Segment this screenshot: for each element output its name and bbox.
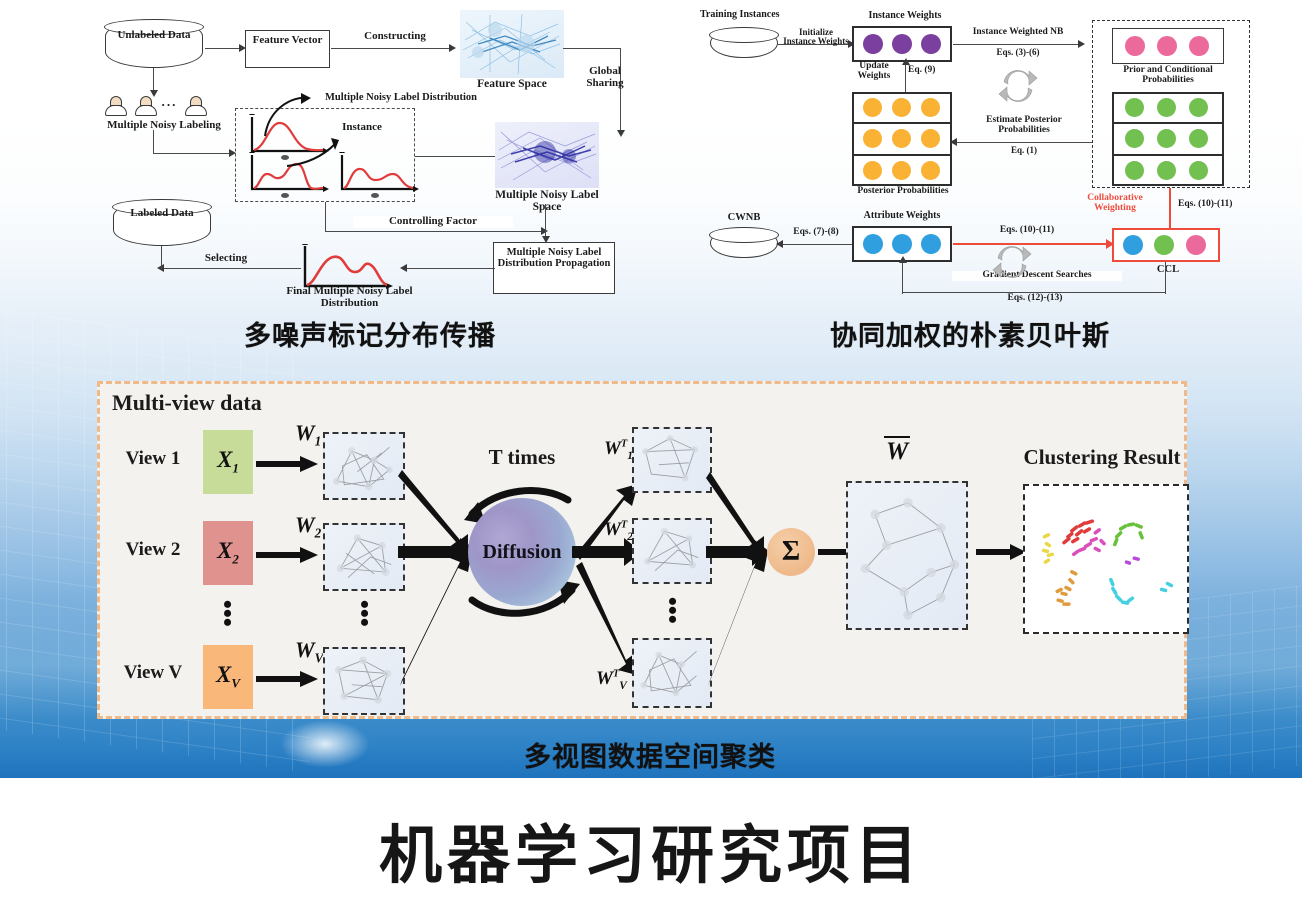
- edge-gradient-descent-arrow: [899, 256, 907, 263]
- panel-multiview-title: Multi-view data: [112, 391, 342, 414]
- graph-box-view-3: [323, 647, 405, 715]
- w-out-label-2: WT2: [604, 519, 633, 543]
- prior-dot: [1157, 36, 1177, 56]
- instance-weight-dot: [921, 34, 941, 54]
- node-diffusion-label: Diffusion: [483, 541, 562, 564]
- node-unlabeled-data-label: Unlabeled Data: [105, 30, 203, 42]
- feature-space-graph: [460, 10, 564, 78]
- graph-box-consensus: [846, 481, 968, 630]
- node-cwnb-label: CWNB: [708, 212, 780, 223]
- conditional-row-divider: [1112, 122, 1224, 124]
- edge-prop-to-final-arrow: [400, 264, 407, 272]
- arrow-view2-to-graph: [256, 547, 320, 568]
- posterior-row-divider: [852, 122, 952, 124]
- view-matrix-3: XV: [203, 645, 253, 709]
- view-matrix-1: X1: [203, 430, 253, 494]
- edge-eq-10-11-mid-label: Eqs. (10)-(11): [972, 226, 1082, 236]
- edge-prop-to-final: [405, 268, 495, 269]
- edge-global-sharing-top: [563, 48, 621, 49]
- arrow-view3-to-graph: [256, 671, 320, 692]
- posterior-dot: [921, 98, 940, 117]
- distribution-marker: [371, 193, 379, 198]
- w-label-2: W2: [295, 512, 321, 541]
- view-matrix-1-text: X1: [217, 447, 239, 477]
- node-diffusion: Diffusion: [468, 498, 576, 606]
- conditional-dot: [1157, 98, 1176, 117]
- posterior-row-divider: [852, 154, 952, 156]
- node-training-instances-label: Training Instances: [700, 10, 810, 21]
- attribute-weight-dot: [921, 234, 941, 254]
- node-unlabeled-data: [105, 20, 203, 68]
- edge-global-sharing-label: Global Sharing: [573, 66, 637, 89]
- edge-estimate-posterior: [955, 142, 1093, 143]
- edge-controlling-label: Controlling Factor: [353, 216, 513, 228]
- posterior-dot: [863, 161, 882, 180]
- edge-eq-1-label: Eq. (1): [962, 146, 1086, 155]
- caption-right: 协同加权的朴素贝叶斯: [780, 314, 1160, 353]
- graph-svg: [325, 649, 403, 713]
- posterior-dot: [892, 98, 911, 117]
- graph-vertical-ellipsis-right: •••: [668, 597, 677, 624]
- clustering-result-label: Clustering Result: [1012, 446, 1192, 468]
- labeler-person-icon: [185, 96, 207, 116]
- node-feature-space-image: [460, 10, 564, 78]
- conditional-dot: [1189, 98, 1208, 117]
- prior-dot: [1125, 36, 1145, 56]
- slide-canvas: Unlabeled Data Feature Vector Constructi…: [0, 0, 1302, 912]
- clustering-result-plot: [1023, 484, 1189, 634]
- recycle-icon: [990, 242, 1034, 282]
- edge-instance-weighted-nb-arrow: [1078, 40, 1085, 48]
- instance-weight-dot: [892, 34, 912, 54]
- graph-svg: [634, 520, 710, 582]
- noisy-space-graph: [495, 122, 599, 188]
- edge-estimate-posterior-arrow: [950, 138, 957, 146]
- graph-box-view-2: [323, 523, 405, 591]
- graph-svg: [634, 429, 710, 491]
- conditional-row-divider: [1112, 154, 1224, 156]
- edge-eq-3-6-label: Eqs. (3)-(6): [958, 48, 1078, 57]
- conditional-dot: [1125, 98, 1144, 117]
- node-attribute-weights-label: Attribute Weights: [850, 211, 954, 222]
- posterior-dot: [921, 129, 940, 148]
- edge-initialize-label: Initialize Instance Weights: [774, 28, 858, 47]
- ccl-dot-green: [1154, 235, 1174, 255]
- conditional-dot: [1157, 129, 1176, 148]
- recycle-icon: [996, 66, 1040, 106]
- edge-gradient-descent-left: [902, 262, 903, 294]
- node-feature-vector-label: Feature Vector: [245, 35, 330, 47]
- arrow-view1-to-graph: [256, 456, 320, 477]
- edge-update-weights: [905, 64, 906, 94]
- edge-estimate-posterior-label: Estimate Posterior Probabilities: [962, 116, 1086, 136]
- conditional-dot: [1125, 129, 1144, 148]
- graph-svg: [325, 434, 403, 498]
- graph-box-out-3: [632, 638, 712, 708]
- distribution-marker: [281, 193, 289, 198]
- graph-box-view-1: [323, 432, 405, 500]
- conditional-dot: [1125, 161, 1144, 180]
- edge-unlabeled-to-feature: [205, 48, 241, 49]
- view-matrix-2: X2: [203, 521, 253, 585]
- edge-collaborative-weighting-label: Collaborative Weighting: [1066, 194, 1164, 214]
- edge-update-weights-arrow: [902, 58, 910, 65]
- labeler-ellipsis: ···: [161, 98, 177, 112]
- w-label-3: WV: [295, 637, 323, 666]
- node-final-distribution-label: Final Multiple Noisy Label Distribution: [277, 286, 422, 309]
- conditional-dot: [1157, 161, 1176, 180]
- edge-instance-weighted-nb: [953, 44, 1081, 45]
- node-posterior-probabilities-label: Posterior Probabilities: [848, 187, 958, 197]
- w-label-1: W1: [295, 420, 321, 449]
- posterior-dot: [921, 161, 940, 180]
- view-matrix-2-text: X2: [217, 538, 239, 568]
- node-training-instances: [710, 28, 778, 58]
- edge-eq-12-13-label: Eqs. (12)-(13): [960, 294, 1110, 304]
- view-row-label-3: View V: [110, 663, 196, 683]
- edge-selecting-vert: [161, 244, 162, 269]
- edge-eq-7-8-label: Eqs. (7)-(8): [782, 228, 850, 238]
- arrow-wbar-to-cluster: [976, 544, 1028, 565]
- labeler-person-icon: [135, 96, 157, 116]
- graph-svg: [848, 483, 966, 628]
- caption-bottom: 多视图数据空间聚类: [470, 735, 830, 774]
- edge-collaborative-weighting-vert: [1169, 188, 1171, 230]
- graph-svg: [325, 525, 403, 589]
- node-sum-label: Σ: [782, 536, 800, 568]
- w-bar-label: W: [884, 438, 910, 466]
- page-title: 机器学习研究项目: [0, 805, 1302, 896]
- edge-controlling-vert: [325, 202, 326, 232]
- edge-constructing: [331, 48, 451, 49]
- edge-space-to-prop: [545, 204, 546, 238]
- edge-controlling-horz: [325, 231, 545, 232]
- labelers-label: Multiple Noisy Labeling: [89, 120, 239, 132]
- w-out-label-3: WTV: [596, 668, 627, 692]
- edge-update-weights-label: Update Weights: [846, 62, 902, 82]
- attribute-weight-dot: [892, 234, 912, 254]
- edge-instance-weighted-nb-label: Instance Weighted NB: [958, 28, 1078, 38]
- edge-global-sharing-vert: [620, 48, 621, 132]
- edge-selecting-label: Selecting: [181, 253, 271, 265]
- edge-eq-9-label: Eq. (9): [908, 66, 948, 76]
- cluster-scatter-svg: [1025, 486, 1187, 632]
- view-row-label-1: View 1: [110, 449, 196, 469]
- graph-box-out-2: [632, 518, 712, 584]
- posterior-dot: [863, 129, 882, 148]
- edge-constructing-arrow: [449, 44, 456, 52]
- node-feature-space-label: Feature Space: [460, 78, 564, 90]
- view-matrix-3-text: XV: [216, 662, 240, 692]
- edge-constructing-label: Constructing: [345, 31, 445, 43]
- graph-vertical-ellipsis-left: •••: [360, 600, 369, 627]
- instance-weight-dot: [863, 34, 883, 54]
- labeler-person-icon: [105, 96, 127, 116]
- ccl-dot-pink: [1186, 235, 1206, 255]
- node-instance-weights-label: Instance Weights: [850, 11, 960, 22]
- arrows-into-sigma: [706, 430, 772, 716]
- graph-svg: [634, 640, 710, 706]
- edge-eq-10-11-right-label: Eqs. (10)-(11): [1178, 200, 1258, 210]
- node-propagation-label: Multiple Noisy Label Distribution Propag…: [493, 247, 615, 269]
- diagram-noisy-label-propagation: Unlabeled Data Feature Vector Constructi…: [95, 4, 640, 304]
- edge-eq-7-8-arrow: [776, 240, 783, 248]
- edge-gradient-descent-right: [1165, 262, 1166, 294]
- posterior-dot: [892, 161, 911, 180]
- edge-labelers-vert: [153, 130, 154, 154]
- edge-labelers-horz: [153, 153, 231, 154]
- node-ccl-label: CCL: [1140, 264, 1196, 275]
- node-cwnb: [710, 228, 778, 258]
- node-labeled-data-label: Labeled Data: [113, 208, 211, 220]
- edge-unlabeled-to-labelers: [153, 68, 154, 92]
- caption-left: 多噪声标记分布传播: [180, 314, 560, 353]
- edge-selecting: [161, 268, 301, 269]
- node-noisy-label-space-image: [495, 122, 599, 188]
- instance-label: Instance: [327, 122, 397, 134]
- node-prior-conditional-label: Prior and Conditional Probabilities: [1105, 66, 1231, 86]
- node-sum: Σ: [767, 528, 815, 576]
- edge-dist-to-space: [415, 156, 499, 157]
- t-times-label: T times: [466, 446, 578, 468]
- attribute-weight-dot: [863, 234, 883, 254]
- posterior-dot: [892, 129, 911, 148]
- prior-dot: [1189, 36, 1209, 56]
- node-noisy-label-space-label: Multiple Noisy Label Space: [491, 189, 603, 213]
- edge-gradient-descent-label: Gradient Descent Searches: [952, 271, 1122, 281]
- posterior-dot: [863, 98, 882, 117]
- view-row-label-2: View 2: [110, 540, 196, 560]
- conditional-dot: [1189, 129, 1208, 148]
- conditional-dot: [1189, 161, 1208, 180]
- w-out-label-1: WT1: [604, 438, 633, 462]
- edge-global-sharing-arrow: [617, 130, 625, 137]
- view-vertical-ellipsis: •••: [223, 600, 232, 627]
- edge-eq-7-8: [780, 244, 852, 245]
- diagram-collaborative-naive-bayes: Training Instances Initialize Instance W…: [700, 4, 1260, 304]
- graph-box-out-1: [632, 427, 712, 493]
- ccl-dot-blue: [1123, 235, 1143, 255]
